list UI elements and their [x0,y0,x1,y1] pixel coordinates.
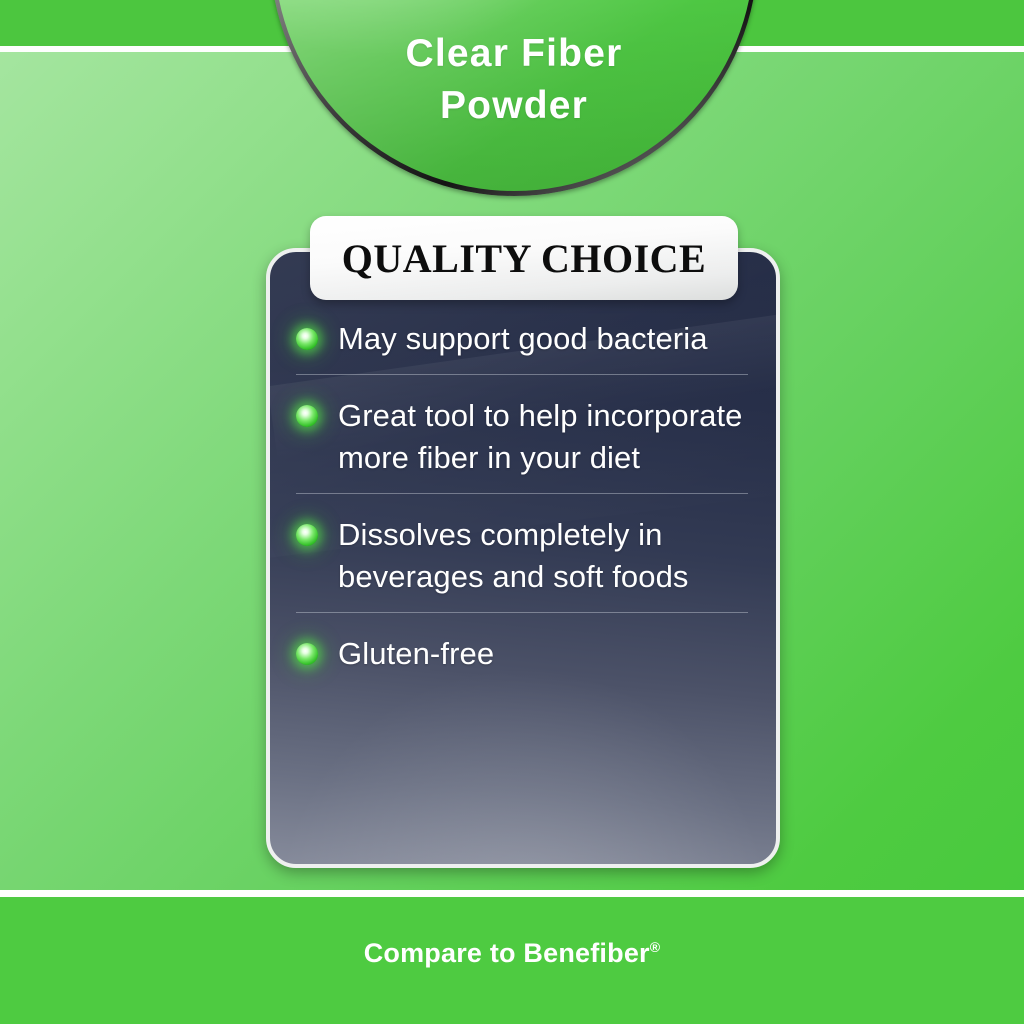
quality-choice-label: QUALITY CHOICE [342,235,706,282]
green-dot-icon [296,405,318,427]
benefit-text: Gluten-free [338,633,494,675]
compare-to-claim: Compare to Benefiber® [0,938,1024,969]
product-lid-graphic: Clear Fiber Powder [270,0,758,196]
list-item: May support good bacteria [296,318,748,374]
benefit-text: Great tool to help incorporate more fibe… [338,395,748,479]
list-item: Dissolves completely in beverages and so… [296,493,748,612]
quality-choice-banner: QUALITY CHOICE [310,216,738,300]
compare-to-text: Compare to Benefiber [364,938,650,968]
product-title-line-1: Clear Fiber [270,28,758,80]
product-title-line-2: Powder [270,80,758,132]
green-dot-icon [296,643,318,665]
list-item: Great tool to help incorporate more fibe… [296,374,748,493]
bottom-divider-line [0,890,1024,897]
benefit-text: May support good bacteria [338,318,708,360]
benefit-text: Dissolves completely in beverages and so… [338,514,748,598]
card-bottom-glow [270,664,776,868]
product-title: Clear Fiber Powder [270,28,758,132]
product-feature-graphic: Clear Fiber Powder QUALITY CHOICE May su… [0,0,1024,1024]
green-dot-icon [296,328,318,350]
registered-trademark-mark: ® [650,939,661,955]
benefits-list: May support good bacteria Great tool to … [296,318,748,689]
green-dot-icon [296,524,318,546]
list-item: Gluten-free [296,612,748,689]
